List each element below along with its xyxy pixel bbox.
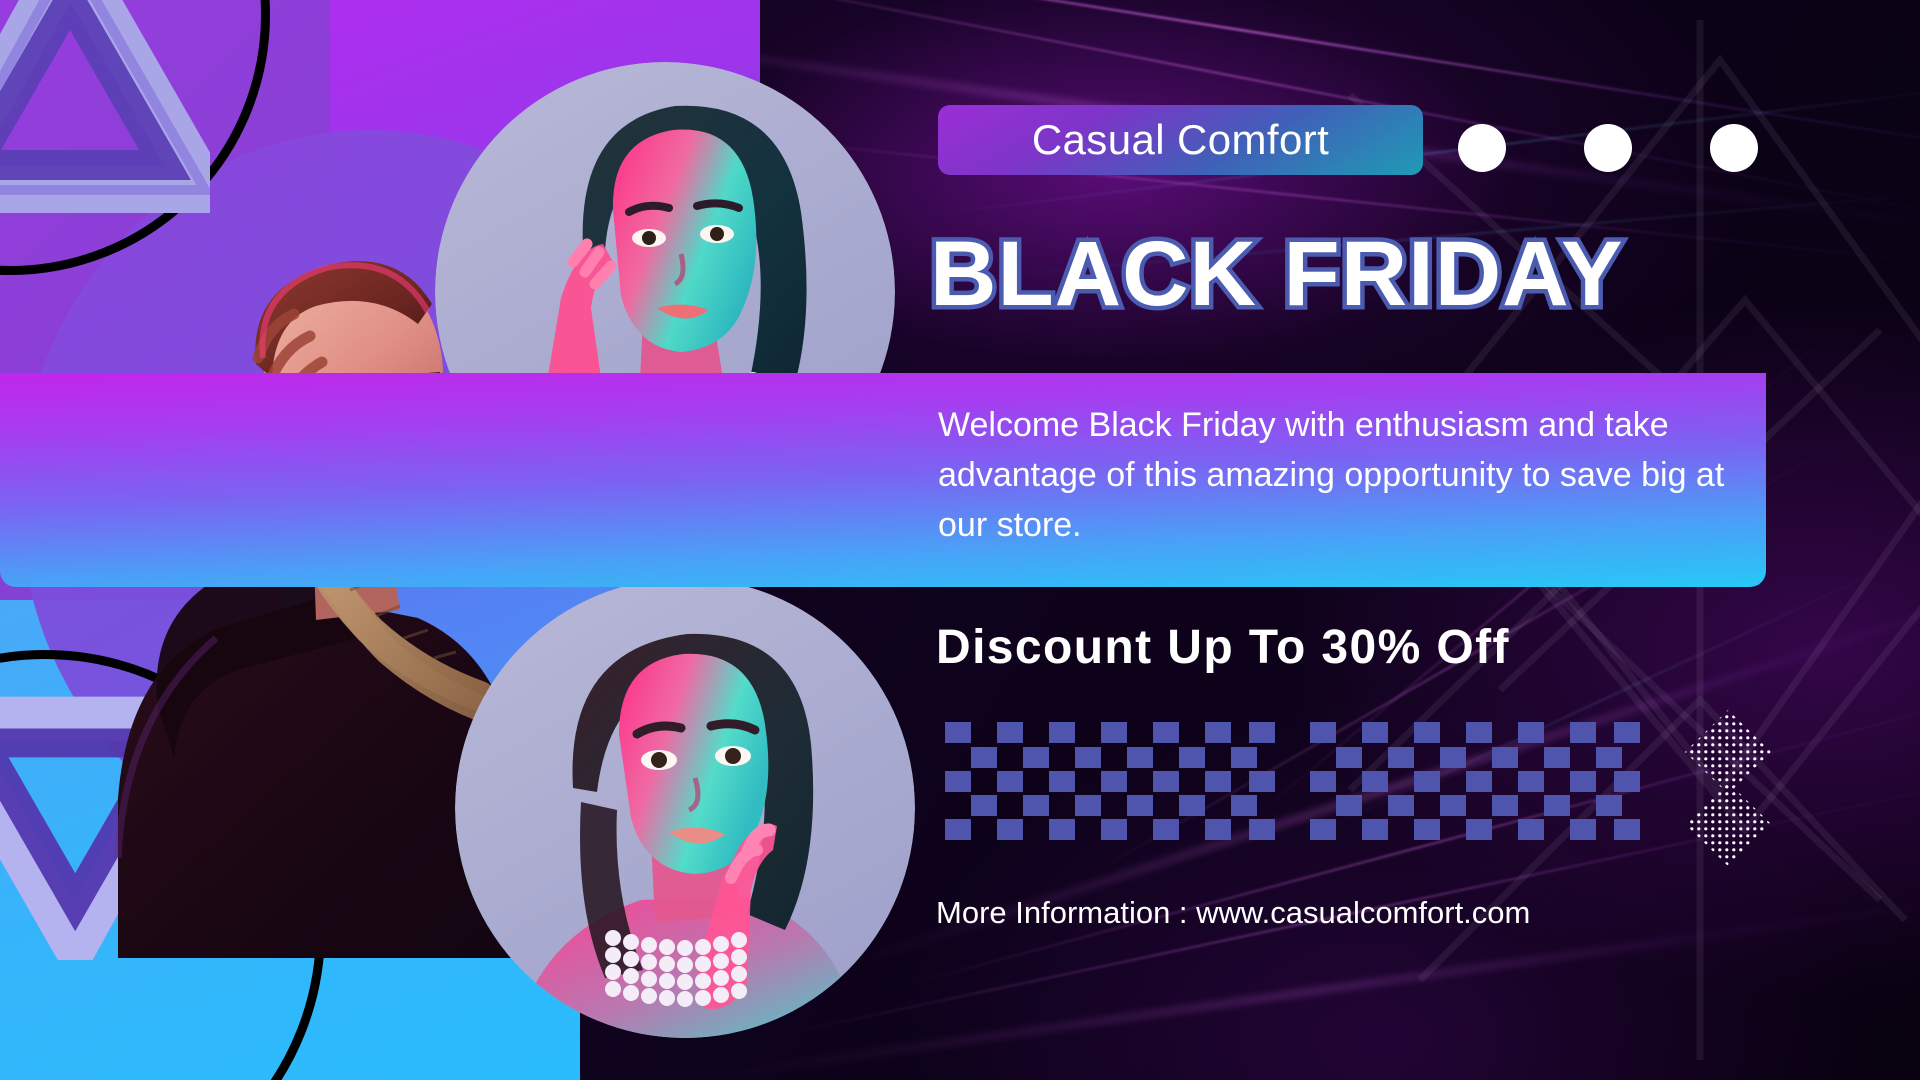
discount-headline: Discount Up To 30% Off (936, 620, 1510, 675)
dot-icon (1710, 124, 1758, 172)
description-panel: Welcome Black Friday with enthusiasm and… (0, 373, 1766, 587)
page-title: BLACK FRIDAY (930, 228, 1810, 320)
brand-badge[interactable]: Casual Comfort (938, 105, 1423, 175)
portrait-photo-bottom (455, 578, 915, 1038)
more-information-text[interactable]: More Information : www.casualcomfort.com (936, 895, 1530, 931)
description-text: Welcome Black Friday with enthusiasm and… (938, 401, 1738, 551)
checker-pattern-left (945, 722, 1275, 840)
black-friday-promo-banner: Casual Comfort BLACK FRIDAY Welcome Blac… (0, 0, 1920, 1080)
brand-badge-label: Casual Comfort (1032, 116, 1329, 164)
decor-dots (1458, 124, 1758, 172)
dotted-diamond-decor (1683, 708, 1773, 868)
impossible-triangle-icon (0, 0, 210, 215)
checker-pattern-right (1310, 722, 1640, 840)
dot-icon (1458, 124, 1506, 172)
dot-icon (1584, 124, 1632, 172)
